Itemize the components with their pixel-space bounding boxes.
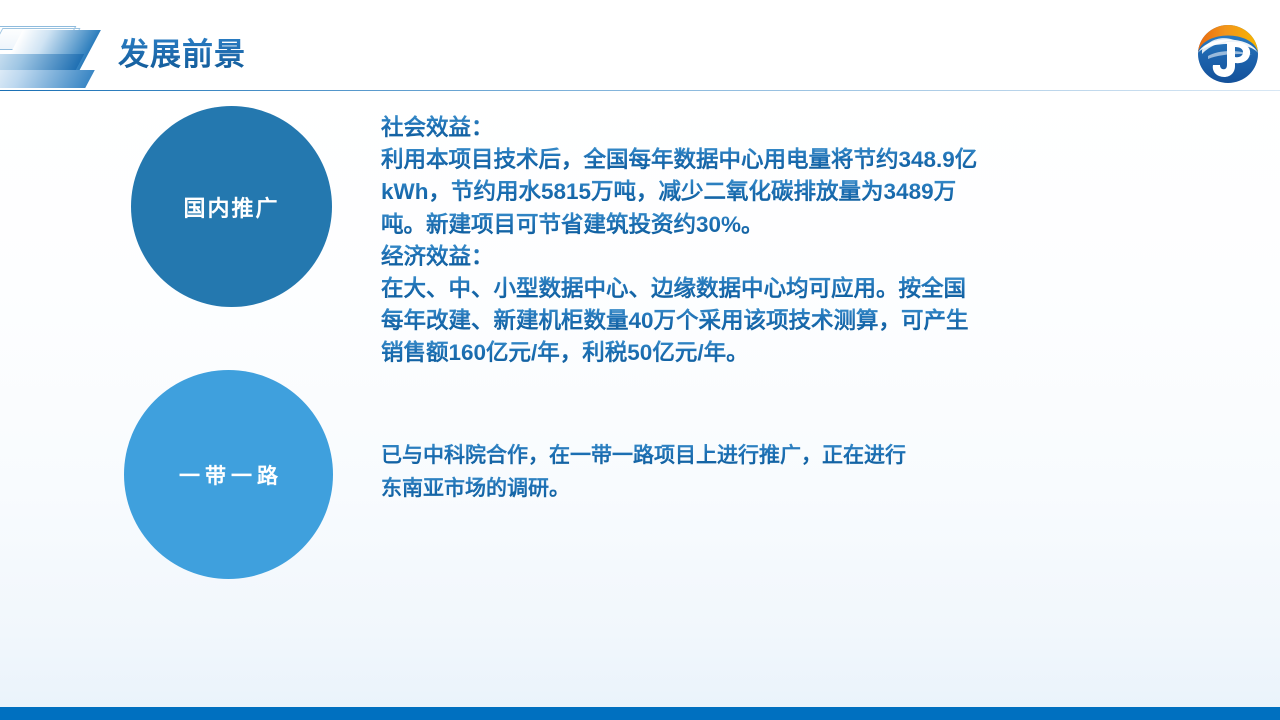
footer-bar <box>0 707 1280 720</box>
badge-circle-label: 一带一路 <box>174 460 283 490</box>
benefits-text-block: 社会效益： 利用本项目技术后，全国每年数据中心用电量将节约348.9亿 kWh，… <box>381 112 977 370</box>
benefits-line: 每年改建、新建机柜数量40万个采用该项技术测算，可产生 <box>381 305 977 337</box>
benefits-line: 在大、中、小型数据中心、边缘数据中心均可应用。按全国 <box>381 273 977 305</box>
belt-and-road-line: 已与中科院合作，在一带一路项目上进行推广，正在进行 <box>381 439 906 472</box>
page-title: 发展前景 <box>118 36 246 73</box>
benefits-line: 社会效益： <box>381 112 977 144</box>
slide-header: 发展前景 <box>0 0 1280 92</box>
belt-and-road-text-block: 已与中科院合作，在一带一路项目上进行推广，正在进行 东南亚市场的调研。 <box>381 439 906 505</box>
benefits-line: kWh，节约用水5815万吨，减少二氧化碳排放量为3489万 <box>381 176 977 208</box>
benefits-line: 销售额160亿元/年，利税50亿元/年。 <box>381 337 977 369</box>
benefits-line: 经济效益： <box>381 241 977 273</box>
badge-circle-domestic-promotion: 国内推广 <box>131 106 332 307</box>
header-divider <box>0 90 1280 91</box>
badge-circle-belt-and-road: 一带一路 <box>124 370 333 579</box>
decoration-solid-bar-2 <box>0 54 84 70</box>
benefits-line: 吨。新建项目可节省建筑投资约30%。 <box>381 209 977 241</box>
benefits-line: 利用本项目技术后，全国每年数据中心用电量将节约348.9亿 <box>381 144 977 176</box>
badge-circle-label: 国内推广 <box>183 191 279 223</box>
belt-and-road-line: 东南亚市场的调研。 <box>381 472 906 505</box>
slide-canvas: 发展前景 <box>0 0 1280 720</box>
company-logo-icon <box>1194 22 1262 86</box>
decoration-solid-bar-3 <box>0 70 95 88</box>
